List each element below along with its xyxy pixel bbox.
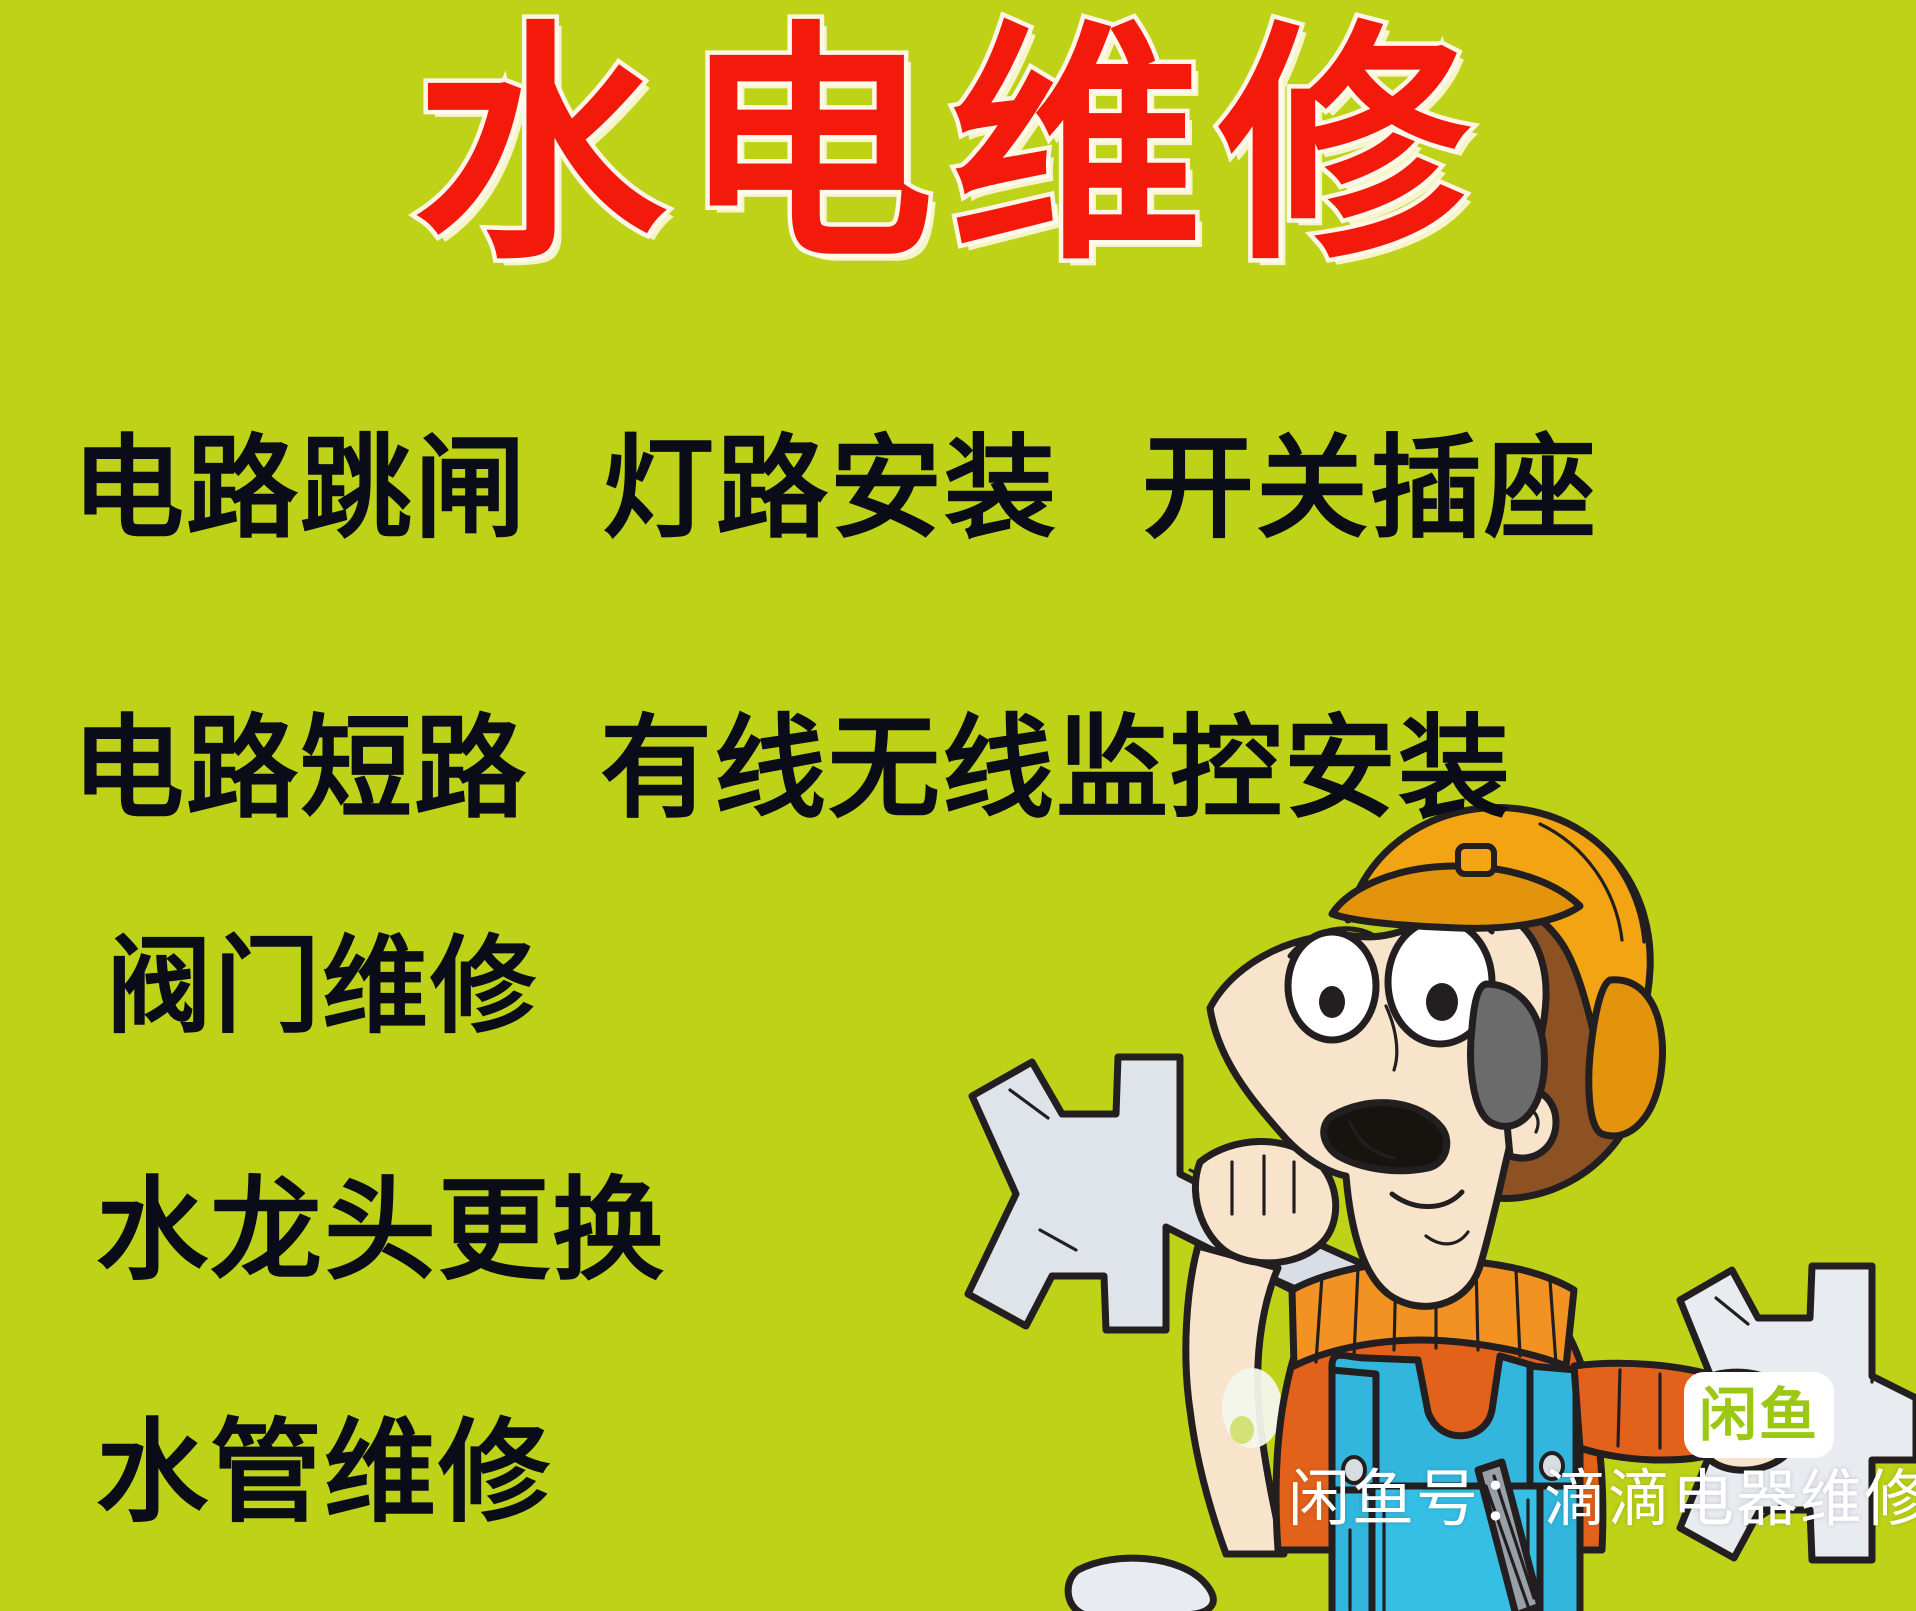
xianyu-logo-badge: 闲鱼	[1684, 1372, 1834, 1458]
service-row-4: 水龙头更换	[96, 1140, 666, 1302]
service-item-faucet-replace: 水龙头更换	[96, 1140, 666, 1302]
service-item-electrical-trip: 电路跳闸	[72, 398, 528, 560]
poster-canvas: 水电维修 电路跳闸 灯路安装 开关插座 电路短路 有线无线监控安装 阀门维修 水…	[0, 0, 1916, 1611]
service-item-cctv-install: 有线无线监控安装	[600, 678, 1512, 840]
service-row-5: 水管维修	[96, 1382, 552, 1544]
service-row-3: 阀门维修	[106, 900, 538, 1054]
service-item-light-install: 灯路安装	[602, 398, 1058, 560]
service-row-2: 电路短路 有线无线监控安装	[72, 678, 1512, 840]
xianyu-logo-label: 闲鱼	[1699, 1386, 1819, 1444]
page-title: 水电维修	[414, 22, 1502, 274]
service-item-switch-socket: 开关插座	[1142, 398, 1598, 560]
service-item-short-circuit: 电路短路	[72, 678, 528, 840]
service-item-valve-repair: 阀门维修	[106, 900, 538, 1054]
service-item-pipe-repair: 水管维修	[96, 1382, 552, 1544]
watermark-text: 闲鱼号：滴滴电器维修	[1288, 1448, 1916, 1538]
service-row-1: 电路跳闸 灯路安装 开关插座	[72, 398, 1598, 560]
poster-title-area: 水电维修	[0, 22, 1916, 274]
